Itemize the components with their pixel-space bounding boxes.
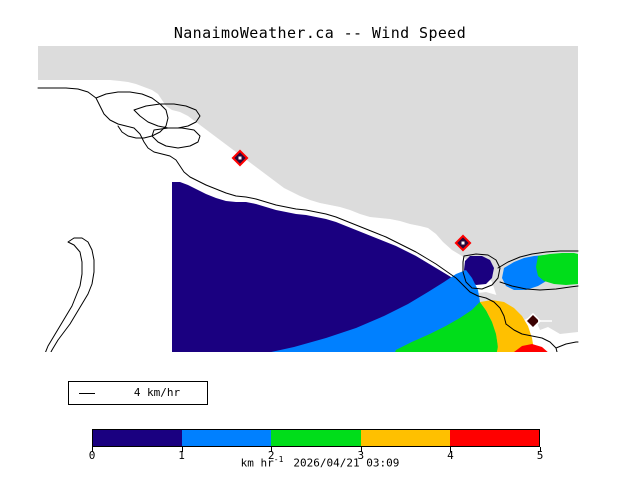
colorbar-band-2 xyxy=(271,430,360,446)
colorbar-footer: km hr-12026/04/21 03:09 xyxy=(0,455,640,470)
page-title: NanaimoWeather.ca -- Wind Speed xyxy=(0,24,640,42)
colorbar-unit-exponent: -1 xyxy=(274,455,284,464)
colorbar-unit-label: km hr xyxy=(241,457,274,470)
map-panel[interactable] xyxy=(0,42,640,352)
colorbar-band-4 xyxy=(450,430,539,446)
colorbar: 012345 xyxy=(92,429,540,447)
colorbar-band-1 xyxy=(182,430,271,446)
colorbar-bands xyxy=(92,429,540,447)
vector-key-label: 4 km/hr xyxy=(109,386,205,399)
timestamp: 2026/04/21 03:09 xyxy=(293,457,399,470)
colorbar-band-3 xyxy=(361,430,450,446)
vector-key-box: 4 km/hr xyxy=(68,381,208,405)
map-canvas[interactable] xyxy=(0,42,640,352)
colorbar-band-0 xyxy=(93,430,182,446)
wind-barb-icon xyxy=(79,393,95,395)
weather-map-page: NanaimoWeather.ca -- Wind Speed xyxy=(0,0,640,480)
